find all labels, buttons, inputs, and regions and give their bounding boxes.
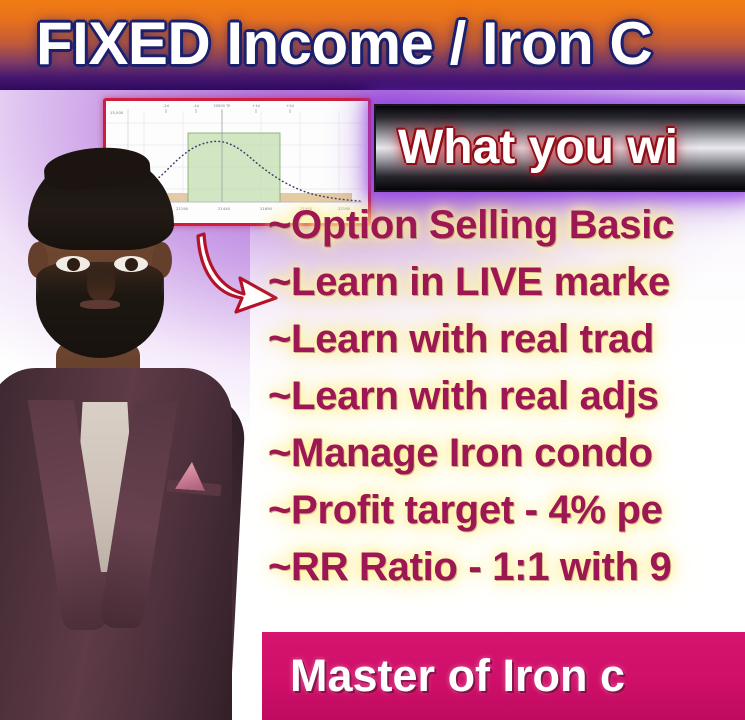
banner-title: What you wi [398,110,678,186]
what-you-will-learn-banner: What you wi [374,104,745,192]
thumbnail-poster: FIXED Income / Iron C [0,0,745,720]
presenter-mouth [80,300,120,309]
svg-text:20900 TE: 20900 TE [213,104,231,108]
list-item: ~Option Selling Basic [268,197,745,254]
bottom-banner: Master of Iron c [262,632,745,720]
header-bar: FIXED Income / Iron C [0,0,745,90]
svg-text:+2d: +2d [286,104,294,108]
svg-text:-1d: -1d [193,104,199,108]
presenter-photo [0,110,234,720]
list-item: ~Learn in LIVE marke [268,254,745,311]
page-title: FIXED Income / Iron C [36,6,652,82]
feature-bullet-list: ~Option Selling Basic ~Learn in LIVE mar… [268,197,745,596]
list-item: ~Profit target - 4% pe [268,482,745,539]
list-item: ~RR Ratio - 1:1 with 9 [268,539,745,596]
list-item: ~Learn with real adjs [268,368,745,425]
svg-text:-2d: -2d [163,104,169,108]
bottom-banner-title: Master of Iron c [290,634,625,718]
presenter-nose [87,268,115,302]
presenter-iris-left [67,258,80,271]
list-item: ~Manage Iron condo [268,425,745,482]
list-item: ~Learn with real trad [268,311,745,368]
svg-text:+1d: +1d [252,104,260,108]
presenter-iris-right [125,258,138,271]
